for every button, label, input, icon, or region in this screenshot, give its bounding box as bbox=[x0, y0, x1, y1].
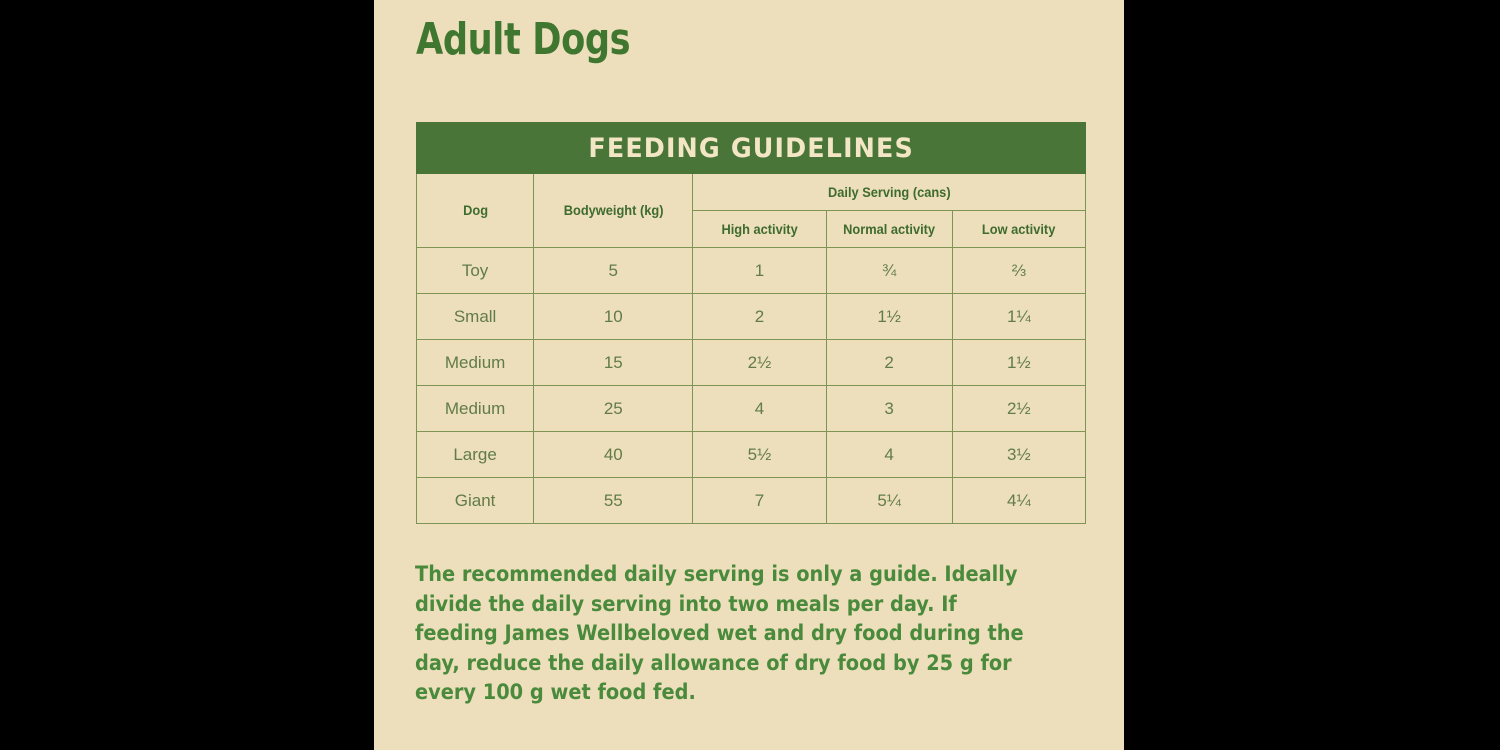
table-banner-cell: FEEDING GUIDELINES bbox=[417, 123, 1086, 174]
cell-dog: Medium bbox=[417, 340, 534, 386]
cell-high: 7 bbox=[693, 478, 826, 524]
cell-bodyweight: 55 bbox=[534, 478, 693, 524]
cell-normal: 1½ bbox=[826, 294, 952, 340]
table-row: Large405½43½ bbox=[417, 432, 1086, 478]
cell-high: 4 bbox=[693, 386, 826, 432]
cell-bodyweight: 15 bbox=[534, 340, 693, 386]
cell-dog: Small bbox=[417, 294, 534, 340]
cell-bodyweight: 40 bbox=[534, 432, 693, 478]
column-header-bodyweight: Bodyweight (kg) bbox=[538, 174, 689, 248]
table-row: Small1021½1¼ bbox=[417, 294, 1086, 340]
cell-normal: ¾ bbox=[826, 248, 952, 294]
cell-normal: 5¼ bbox=[826, 478, 952, 524]
feeding-guidelines-table: FEEDING GUIDELINES Dog Bodyweight (kg) D… bbox=[416, 122, 1086, 524]
table-banner-row: FEEDING GUIDELINES bbox=[417, 123, 1086, 174]
column-header-dog: Dog bbox=[419, 174, 530, 248]
table-body: Toy51¾⅔Small1021½1¼Medium152½21½Medium25… bbox=[417, 248, 1086, 524]
cell-high: 1 bbox=[693, 248, 826, 294]
table-row: Toy51¾⅔ bbox=[417, 248, 1086, 294]
cell-dog: Large bbox=[417, 432, 534, 478]
cell-dog: Toy bbox=[417, 248, 534, 294]
column-group-header-daily-serving: Daily Serving (cans) bbox=[703, 174, 1076, 211]
cell-low: 1½ bbox=[952, 340, 1085, 386]
column-header-normal-activity: Normal activity bbox=[829, 211, 949, 248]
cell-low: 4¼ bbox=[952, 478, 1085, 524]
column-header-low-activity: Low activity bbox=[956, 211, 1083, 248]
cell-high: 2 bbox=[693, 294, 826, 340]
table-header: FEEDING GUIDELINES Dog Bodyweight (kg) D… bbox=[417, 123, 1086, 248]
table-row: Medium25432½ bbox=[417, 386, 1086, 432]
cell-dog: Giant bbox=[417, 478, 534, 524]
cell-low: 1¼ bbox=[952, 294, 1085, 340]
table-banner-title: FEEDING GUIDELINES bbox=[588, 133, 914, 164]
cell-low: 3½ bbox=[952, 432, 1085, 478]
page-sheet: Adult Dogs FEEDING GUIDELINES Dog Bodywe… bbox=[374, 0, 1124, 750]
cell-bodyweight: 25 bbox=[534, 386, 693, 432]
cell-low: 2½ bbox=[952, 386, 1085, 432]
page-root: Adult Dogs FEEDING GUIDELINES Dog Bodywe… bbox=[0, 0, 1500, 750]
cell-bodyweight: 10 bbox=[534, 294, 693, 340]
cell-high: 5½ bbox=[693, 432, 826, 478]
table-header-row-1: Dog Bodyweight (kg) Daily Serving (cans) bbox=[417, 174, 1086, 211]
cell-dog: Medium bbox=[417, 386, 534, 432]
cell-high: 2½ bbox=[693, 340, 826, 386]
table-row: Giant5575¼4¼ bbox=[417, 478, 1086, 524]
cell-normal: 4 bbox=[826, 432, 952, 478]
column-header-high-activity: High activity bbox=[696, 211, 823, 248]
footer-note: The recommended daily serving is only a … bbox=[415, 560, 1025, 708]
page-title: Adult Dogs bbox=[416, 14, 630, 65]
cell-bodyweight: 5 bbox=[534, 248, 693, 294]
cell-normal: 2 bbox=[826, 340, 952, 386]
cell-normal: 3 bbox=[826, 386, 952, 432]
table-row: Medium152½21½ bbox=[417, 340, 1086, 386]
cell-low: ⅔ bbox=[952, 248, 1085, 294]
